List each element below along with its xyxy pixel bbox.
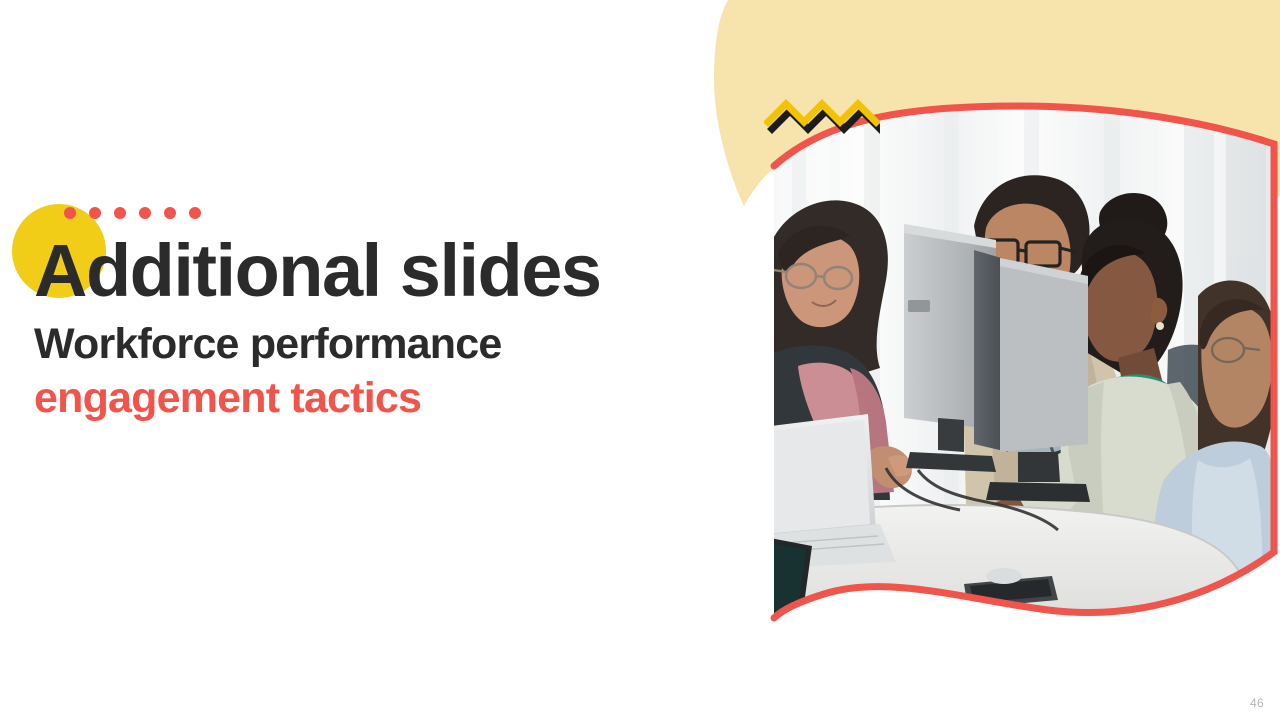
dot-3 bbox=[114, 207, 126, 219]
dots-row-decoration bbox=[64, 207, 201, 219]
title-block: Additional slides Workforce performance … bbox=[34, 196, 734, 422]
dot-2 bbox=[89, 207, 101, 219]
hero-photo-panel bbox=[768, 100, 1280, 640]
dot-5 bbox=[164, 207, 176, 219]
zigzag-chevron-icon bbox=[764, 96, 880, 136]
slide-canvas: Additional slides Workforce performance … bbox=[0, 0, 1280, 720]
page-number: 46 bbox=[1250, 696, 1264, 710]
dot-1 bbox=[64, 207, 76, 219]
zigzag-svg bbox=[764, 96, 880, 136]
hero-photo-svg bbox=[768, 100, 1280, 640]
slide-subtitle-line-2: engagement tactics bbox=[34, 374, 734, 422]
photo-content bbox=[768, 100, 1280, 640]
dot-6 bbox=[189, 207, 201, 219]
slide-subtitle-line-1: Workforce performance bbox=[34, 320, 734, 368]
dot-4 bbox=[139, 207, 151, 219]
